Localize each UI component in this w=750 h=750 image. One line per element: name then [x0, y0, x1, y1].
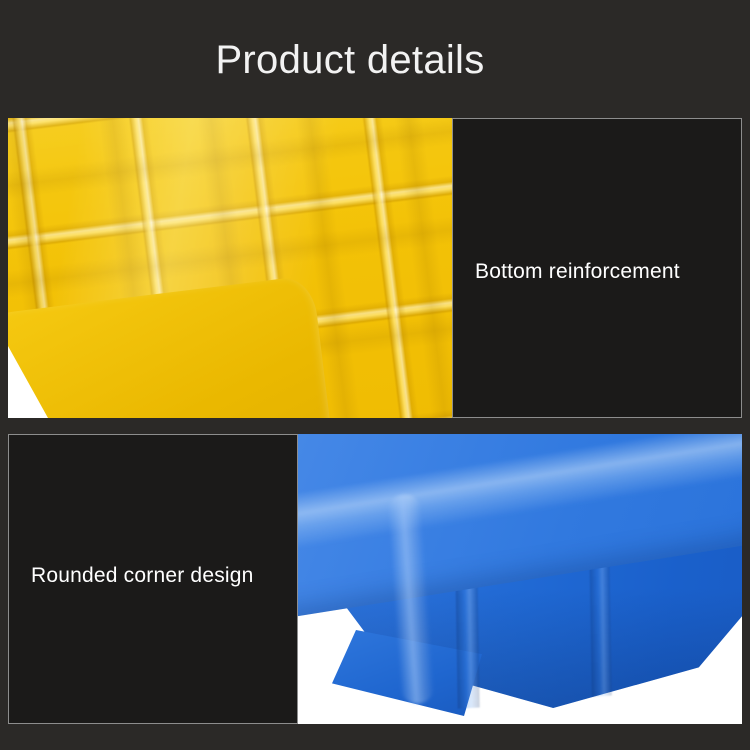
title-bar: Product details	[0, 0, 750, 112]
caption-label-rounded-corner-design: Rounded corner design	[31, 563, 287, 589]
caption-label-bottom-reinforcement: Bottom reinforcement	[475, 259, 731, 285]
section-rounded-corner-design: Rounded corner design	[8, 434, 742, 724]
caption-panel-bottom-reinforcement: Bottom reinforcement	[452, 118, 742, 418]
page-title: Product details	[0, 36, 700, 84]
product-details-page: Product details Bottom reinforcement Rou…	[0, 0, 750, 750]
yellow-crate-bottom-photo	[8, 118, 452, 418]
blue-photo-canvas	[298, 434, 742, 724]
section-bottom-reinforcement: Bottom reinforcement	[8, 118, 742, 418]
blue-crate-corner-photo	[298, 434, 742, 724]
caption-panel-rounded-corner-design: Rounded corner design	[8, 434, 298, 724]
